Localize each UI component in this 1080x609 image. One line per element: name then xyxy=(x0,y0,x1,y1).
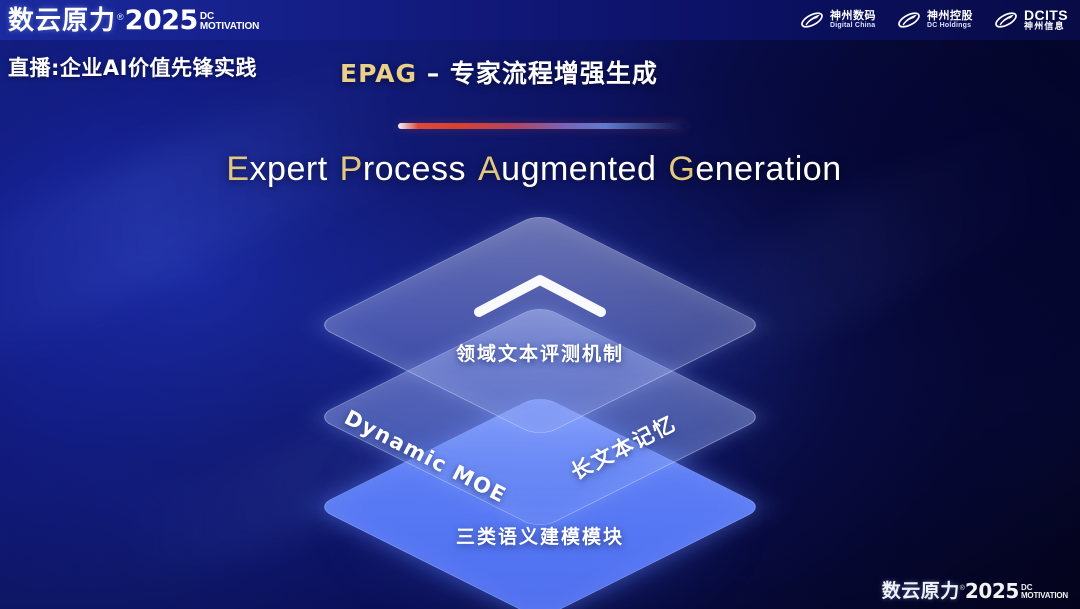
partner-text: 神州控股 DC Holdings xyxy=(927,10,973,29)
brand-name-cn: 数云原力 xyxy=(8,8,116,34)
partner-name-en: 神州信息 xyxy=(1024,23,1068,33)
partner-logo-dcits: DCITS 神州信息 xyxy=(993,8,1068,33)
watermark-year: 2025 xyxy=(965,581,1019,601)
footer-watermark-logo: 数云原力 ® 2025 DC MOTIVATION xyxy=(882,581,1068,601)
expansion-initial: P xyxy=(340,150,363,188)
watermark-registered-mark-icon: ® xyxy=(960,585,965,592)
slide-canvas: 数云原力 ® 2025 DC MOTIVATION 神州数码 Digital C… xyxy=(0,0,1080,609)
partner-name-en: DC Holdings xyxy=(927,22,973,30)
watermark-dc-motivation: DC MOTIVATION xyxy=(1021,584,1068,600)
partner-logo-dc-holdings: 神州控股 DC Holdings xyxy=(896,9,973,31)
expansion-remainder: xpert xyxy=(250,150,328,188)
expansion-word-augmented: Augmented xyxy=(478,150,656,188)
brand-dc-line2: MOTIVATION xyxy=(200,22,259,32)
header-bar: 数云原力 ® 2025 DC MOTIVATION 神州数码 Digital C… xyxy=(0,0,1080,40)
partner-logo-digital-china: 神州数码 Digital China xyxy=(799,9,876,31)
partner-name-cn: 神州控股 xyxy=(927,10,973,22)
expansion-initial: A xyxy=(478,150,501,188)
partner-name-cn: 神州数码 xyxy=(830,10,876,22)
brand-dc-line1: DC xyxy=(200,12,259,22)
expansion-initial: G xyxy=(668,150,695,188)
acronym-expansion: ExpertProcessAugmentedGeneration xyxy=(0,150,1080,189)
swoosh-logo-icon xyxy=(799,9,825,31)
slide-title-subtitle: – 专家流程增强生成 xyxy=(427,59,658,88)
partner-name-en: Digital China xyxy=(830,22,876,30)
expansion-remainder: ugmented xyxy=(501,150,656,188)
expansion-word-expert: Expert xyxy=(226,150,327,188)
brand-year: 2025 xyxy=(125,7,198,34)
watermark-name-cn: 数云原力 xyxy=(882,582,960,601)
layer-stack-diagram: 领域文本评测机制 Dynamic MOE 长文本记忆 三类语义建模模块 xyxy=(290,236,790,576)
brand-logo: 数云原力 ® 2025 DC MOTIVATION xyxy=(8,7,259,34)
live-broadcast-tag: 直播:企业AI价值先锋实践 xyxy=(8,52,257,82)
watermark-dc-line2: MOTIVATION xyxy=(1021,592,1068,600)
registered-mark-icon: ® xyxy=(117,13,124,22)
expansion-word-process: Process xyxy=(340,150,466,188)
partner-name-cn: DCITS xyxy=(1024,8,1068,23)
partner-text: 神州数码 Digital China xyxy=(830,10,876,29)
title-gradient-rule xyxy=(398,123,686,129)
swoosh-logo-icon xyxy=(993,9,1019,31)
expansion-remainder: eneration xyxy=(695,150,841,188)
expansion-remainder: rocess xyxy=(363,150,466,188)
swoosh-logo-icon xyxy=(896,9,922,31)
slide-title-acronym: EPAG xyxy=(340,59,417,88)
partner-text: DCITS 神州信息 xyxy=(1024,8,1068,33)
brand-dc-motivation: DC MOTIVATION xyxy=(200,12,259,32)
slide-title: EPAG – 专家流程增强生成 xyxy=(340,54,658,90)
expansion-word-generation: Generation xyxy=(668,150,841,188)
partner-logo-group: 神州数码 Digital China 神州控股 DC Holdings xyxy=(799,8,1068,33)
expansion-initial: E xyxy=(226,150,249,188)
